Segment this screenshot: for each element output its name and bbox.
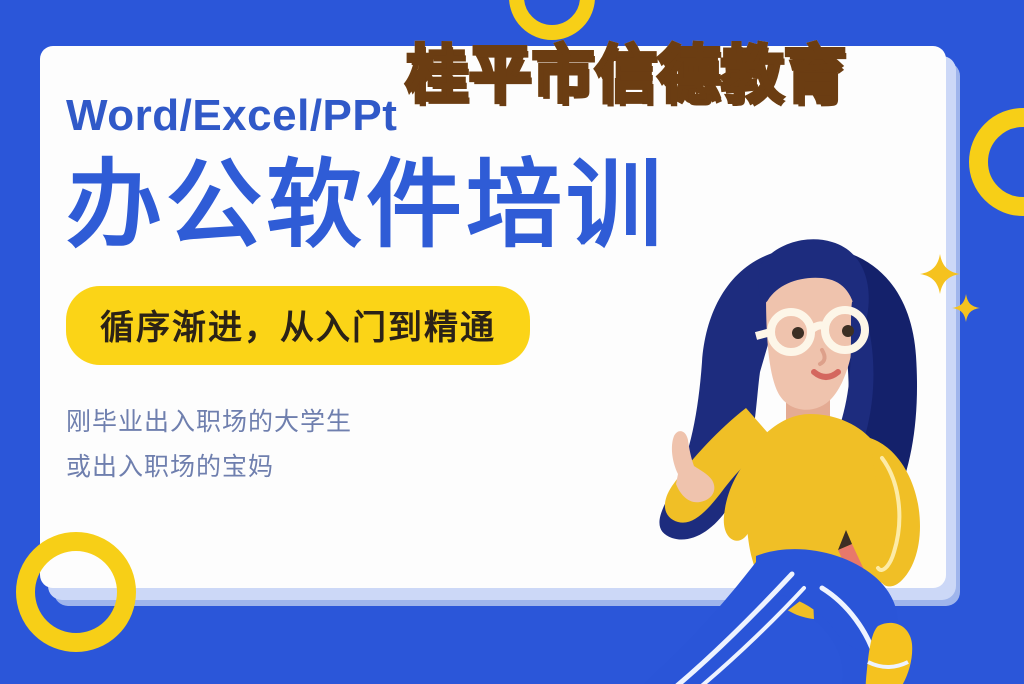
ring-bottom-left-icon — [16, 532, 136, 652]
poster-canvas: Word/Excel/PPt 办公软件培训 循序渐进，从入门到精通 刚毕业出入职… — [0, 0, 1024, 684]
ring-right-icon — [969, 108, 1024, 216]
tagline-badge: 循序渐进，从入门到精通 — [66, 286, 530, 365]
sparkle-small-icon — [950, 292, 982, 324]
watermark-text: 桂平市信德教育 — [406, 24, 847, 114]
sparkle-large-icon — [918, 252, 962, 296]
